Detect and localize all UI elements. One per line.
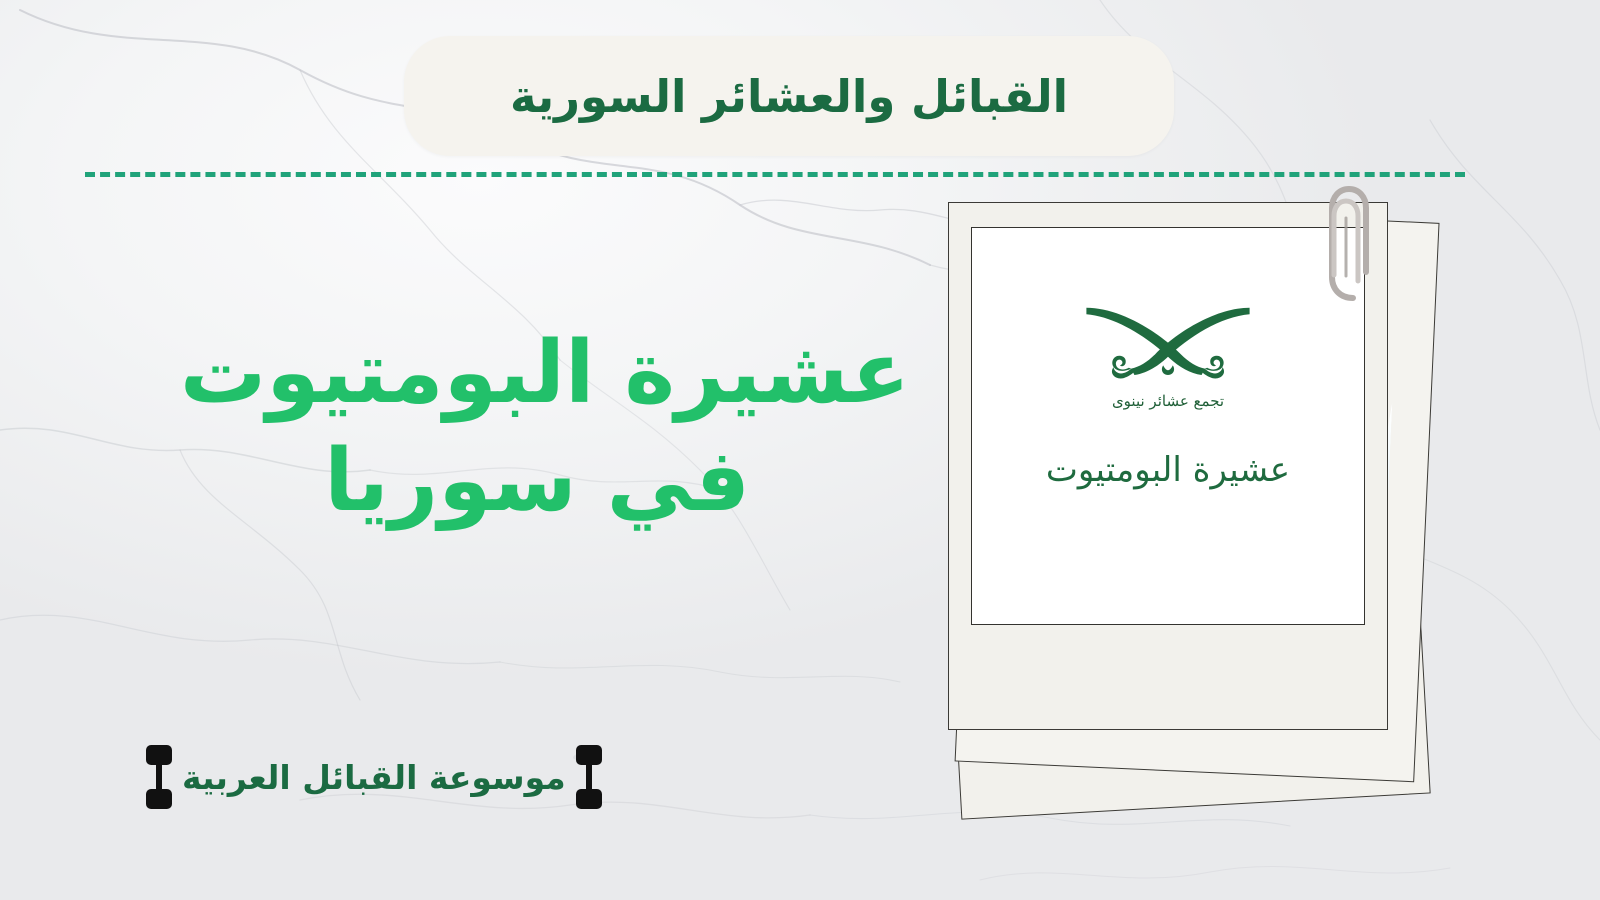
header-banner: القبائل والعشائر السورية <box>404 36 1174 156</box>
bracket-cap-bottom <box>146 789 172 809</box>
footer-brand-label: موسوعة القبائل العربية <box>182 761 566 794</box>
card-tribe-name: عشيرة البومتيوت <box>1046 453 1290 487</box>
emblem-caption: تجمع عشائر نينوى <box>1112 394 1224 409</box>
poster-canvas: القبائل والعشائر السورية عشيرة البومتيوت… <box>0 0 1600 900</box>
headline-block: عشيرة البومتيوت في سوريا <box>20 320 910 535</box>
footer-brand: موسوعة القبائل العربية <box>146 742 602 812</box>
bracket-cap-top <box>146 745 172 765</box>
i-beam-bracket-icon-left <box>146 745 172 809</box>
crossed-swords-icon <box>1080 294 1256 392</box>
photo-card-cluster: تجمع عشائر نينوى عشيرة البومتيوت <box>900 180 1500 820</box>
i-beam-bracket-icon-right <box>576 745 602 809</box>
dashed-divider <box>85 172 1465 177</box>
headline-line-2: في سوريا <box>20 428 910 536</box>
polaroid-photo-area: تجمع عشائر نينوى عشيرة البومتيوت <box>971 227 1365 625</box>
paperclip-icon <box>1320 180 1378 305</box>
bracket-cap-bottom <box>576 789 602 809</box>
page-title: القبائل والعشائر السورية <box>510 74 1068 119</box>
bracket-cap-top <box>576 745 602 765</box>
headline-line-1: عشيرة البومتيوت <box>20 320 910 428</box>
